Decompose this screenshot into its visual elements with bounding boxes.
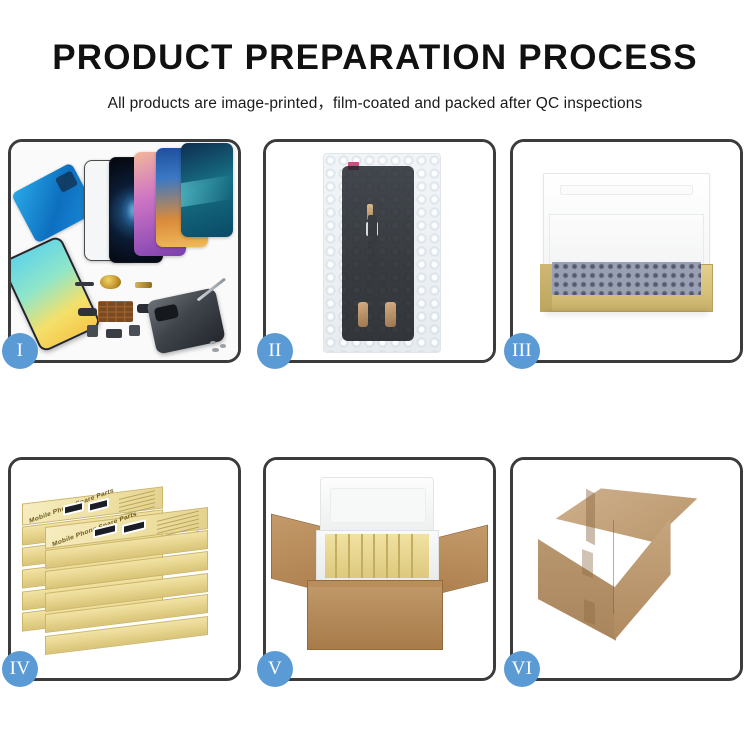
lcd-flex-cable bbox=[368, 215, 377, 295]
step-image-5 bbox=[266, 460, 493, 678]
step-image-1 bbox=[11, 142, 238, 360]
page-title: PRODUCT PREPARATION PROCESS bbox=[0, 40, 750, 75]
step-image-6 bbox=[513, 460, 740, 678]
retail-box-spec-lines bbox=[157, 510, 199, 532]
carton-tape-top bbox=[586, 489, 595, 545]
carton-edge-seam bbox=[613, 520, 614, 614]
lcd-corner-pad-left bbox=[358, 302, 368, 326]
header: PRODUCT PREPARATION PROCESS All products… bbox=[0, 0, 750, 113]
part-coil bbox=[100, 275, 121, 290]
step-badge-2: II bbox=[257, 333, 293, 369]
part-bar bbox=[75, 282, 94, 286]
step-image-3 bbox=[513, 142, 740, 360]
gold-boxes-inside bbox=[325, 534, 429, 578]
step-badge-1: I bbox=[2, 333, 38, 369]
part-button bbox=[129, 325, 140, 335]
step-panel-2: II bbox=[263, 139, 496, 363]
box-lid-flap bbox=[560, 185, 693, 195]
sealed-carton bbox=[538, 488, 715, 645]
step-panel-4: Mobile Phone Spare Parts bbox=[8, 457, 241, 681]
lcd-corner-pad-right bbox=[385, 302, 395, 326]
phone-screen-teal bbox=[181, 143, 233, 237]
part-camera bbox=[87, 325, 98, 337]
step-badge-6: VI bbox=[504, 651, 540, 687]
carton-tape-lower bbox=[584, 599, 595, 625]
retail-box-stack-front: Mobile Phone Spare Parts bbox=[45, 517, 208, 661]
carton-body bbox=[307, 580, 443, 650]
gold-box-tray-side bbox=[540, 264, 551, 312]
bubble-wrapped-contents bbox=[552, 262, 702, 295]
spare-parts-group bbox=[75, 273, 234, 360]
screws-group bbox=[210, 341, 232, 355]
carton-face-right bbox=[614, 518, 715, 640]
process-step-grid: I II bbox=[0, 139, 750, 699]
carton-face-top bbox=[556, 488, 698, 541]
bubble-wrap-bag bbox=[323, 153, 441, 354]
part-flex-cable-1 bbox=[78, 308, 97, 316]
step-panel-3: III bbox=[510, 139, 743, 363]
step-panel-6: VI bbox=[510, 457, 743, 681]
step-panel-1: I bbox=[8, 139, 241, 363]
part-gold-flex bbox=[135, 282, 152, 289]
step-image-2 bbox=[266, 142, 493, 360]
step-badge-5: V bbox=[257, 651, 293, 687]
part-speaker bbox=[106, 329, 122, 339]
carton-tape-upper bbox=[582, 549, 593, 578]
step-badge-4: IV bbox=[2, 651, 38, 687]
step-badge-3: III bbox=[504, 333, 540, 369]
page-subtitle: All products are image-printed，film-coat… bbox=[0, 91, 750, 113]
carton-face-left bbox=[538, 518, 616, 640]
step-image-4: Mobile Phone Spare Parts bbox=[11, 460, 238, 678]
step-panel-5: V bbox=[263, 457, 496, 681]
part-chip-grid bbox=[98, 301, 133, 322]
drop-shadow bbox=[545, 310, 708, 317]
lcd-screen-inside bbox=[342, 166, 414, 341]
retail-box-spec-lines bbox=[119, 490, 155, 511]
product-preparation-infographic: PRODUCT PREPARATION PROCESS All products… bbox=[0, 0, 750, 750]
foam-lid bbox=[320, 477, 434, 534]
